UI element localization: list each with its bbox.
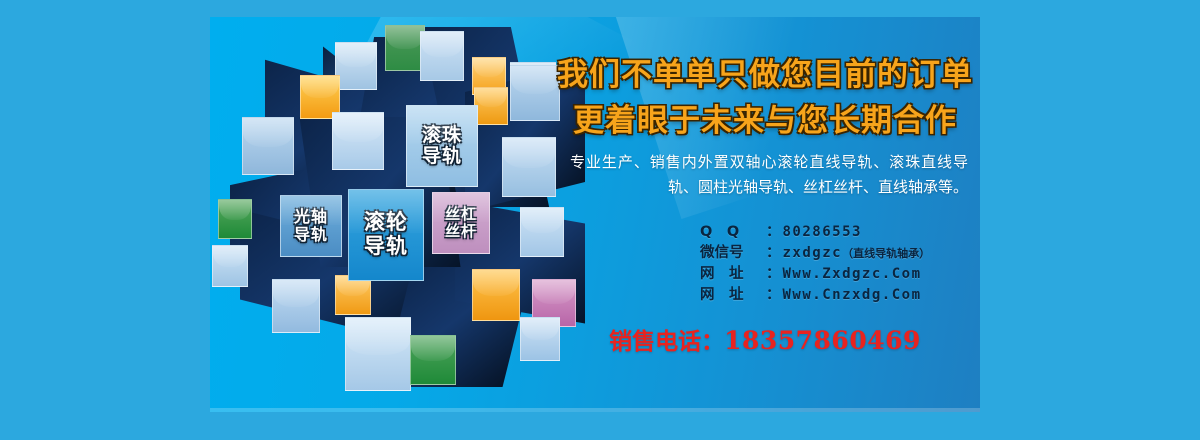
banner-text-column: 我们不单单只做您目前的订单 更着眼于未来与您长期合作 专业生产、销售内外置双轴心… — [550, 17, 980, 412]
cube — [332, 112, 384, 170]
cube — [335, 42, 377, 90]
cube — [385, 25, 425, 71]
contact-list: Q Q ： 80286553 微信号 ： zxdgzc （直线导轨轴承） 网 址… — [700, 222, 980, 306]
labeled-cube-line2: 丝杆 — [445, 223, 477, 240]
promo-banner: 滚珠 导轨 光轴 导轨 滚轮 导轨 丝杠 丝杆 我们不单单只做您目前的订单 — [210, 17, 980, 412]
cube — [212, 245, 248, 287]
contact-separator: ： — [766, 285, 781, 306]
cube — [502, 137, 556, 197]
contact-separator: ： — [766, 243, 781, 264]
contact-row-website-2[interactable]: 网 址 ： Www.Cnzxdg.Com — [700, 285, 980, 306]
headline-line-2: 更着眼于未来与您长期合作 — [550, 95, 980, 140]
labeled-cube-gunzhu-daogui[interactable]: 滚珠 导轨 — [406, 105, 478, 187]
contact-value: Www.Cnzxdg.Com — [783, 285, 922, 306]
labeled-cube-line1: 光轴 — [294, 208, 328, 226]
cube — [410, 335, 456, 385]
cube — [474, 87, 508, 125]
contact-value: zxdgzc — [783, 243, 843, 264]
labeled-cube-sigang-sigan[interactable]: 丝杠 丝杆 — [432, 192, 490, 254]
cube — [272, 279, 320, 333]
sales-phone-number: 18357860469 — [724, 326, 921, 355]
labeled-cube-line1: 滚轮 — [364, 211, 408, 235]
cube — [218, 199, 252, 239]
contact-label: 网 址 — [700, 264, 766, 285]
cube — [420, 31, 464, 81]
cube-cluster-graphic: 滚珠 导轨 光轴 导轨 滚轮 导轨 丝杠 丝杆 — [210, 17, 590, 412]
contact-separator: ： — [766, 264, 781, 285]
cube — [335, 275, 371, 315]
labeled-cube-line1: 丝杠 — [445, 206, 477, 223]
labeled-cube-guangzhou-daogui[interactable]: 光轴 导轨 — [280, 195, 342, 257]
contact-row-qq[interactable]: Q Q ： 80286553 — [700, 222, 980, 243]
contact-note: （直线导轨轴承） — [842, 243, 930, 264]
labeled-cube-gunlun-daogui[interactable]: 滚轮 导轨 — [348, 189, 424, 281]
labeled-cube-line2: 导轨 — [422, 146, 462, 167]
cube — [242, 117, 294, 175]
contact-label: 微信号 — [700, 243, 766, 264]
contact-value: 80286553 — [783, 222, 862, 243]
contact-label: 网 址 — [700, 285, 766, 306]
business-description: 专业生产、销售内外置双轴心滚轮直线导轨、滚珠直线导轨、圆柱光轴导轨、丝杠丝杆、直… — [570, 150, 968, 200]
labeled-cube-line2: 导轨 — [364, 235, 408, 259]
cube — [472, 269, 520, 321]
sales-phone-label: 销售电话： — [609, 329, 724, 355]
contact-label: Q Q — [700, 222, 766, 243]
headline-line-1: 我们不单单只做您目前的订单 — [550, 49, 980, 94]
contact-row-website-1[interactable]: 网 址 ： Www.Zxdgzc.Com — [700, 264, 980, 285]
contact-row-wechat[interactable]: 微信号 ： zxdgzc （直线导轨轴承） — [700, 243, 980, 264]
labeled-cube-line1: 滚珠 — [422, 125, 462, 146]
cube — [345, 317, 411, 391]
labeled-cube-line2: 导轨 — [294, 226, 328, 244]
contact-separator: ： — [766, 222, 781, 243]
sales-phone[interactable]: 销售电话：18357860469 — [550, 322, 980, 356]
contact-value: Www.Zxdgzc.Com — [783, 264, 922, 285]
